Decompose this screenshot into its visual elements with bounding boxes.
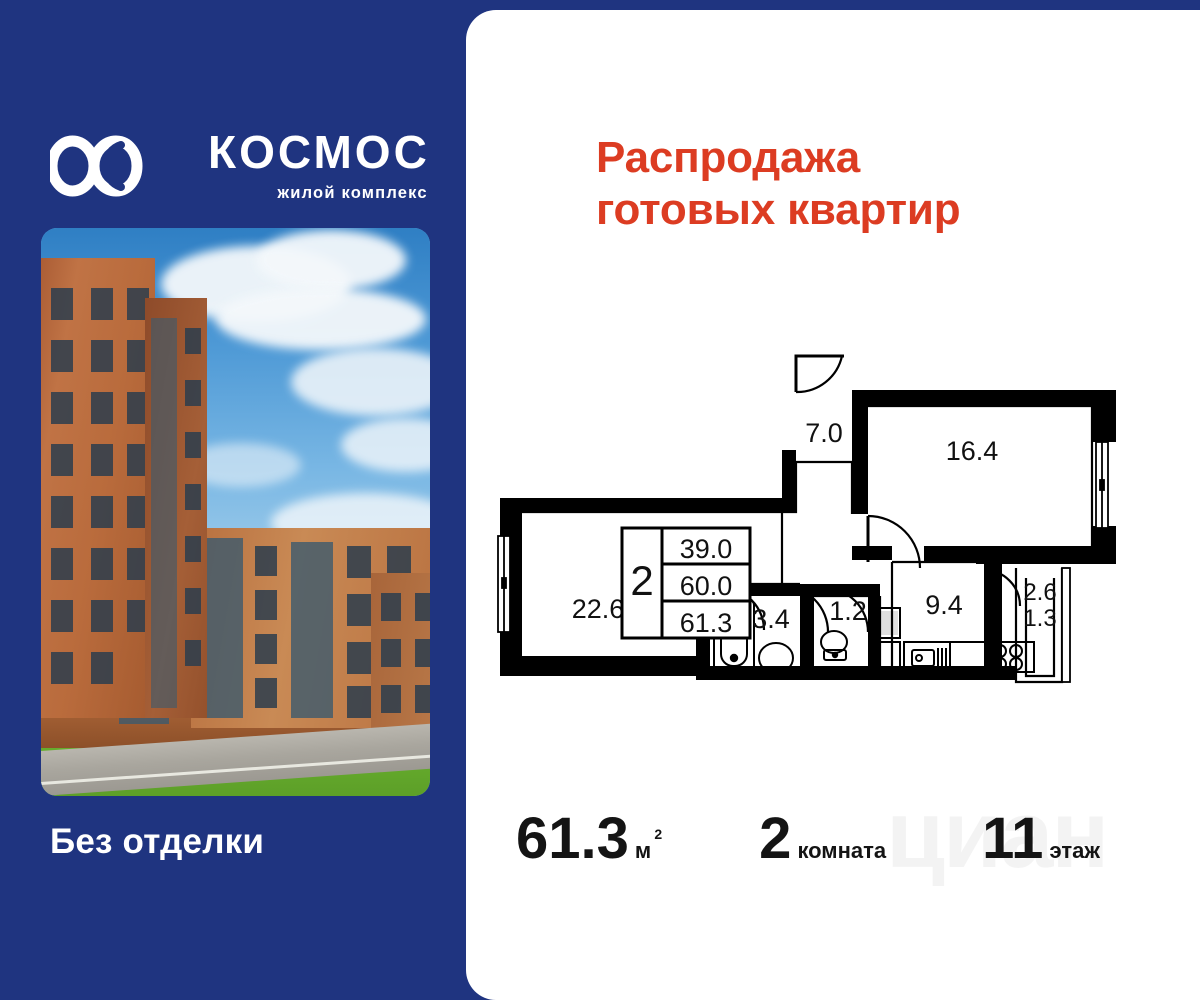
stat-floor: 11 этаж xyxy=(982,810,1100,868)
headline-line-2: готовых квартир xyxy=(596,184,1196,236)
content-card: Распродажа готовых квартир циан xyxy=(466,10,1200,1000)
area-label-wc: 1.2 xyxy=(829,596,867,626)
stat-rooms-value: 2 xyxy=(759,810,791,868)
photo-building-tower-wing xyxy=(145,298,207,718)
stat-floor-value: 11 xyxy=(982,810,1043,868)
area-label-bath: 3.4 xyxy=(752,604,790,634)
page-title: Распродажа готовых квартир xyxy=(596,132,1196,236)
area-label-living: 22.6 xyxy=(572,594,625,624)
stat-rooms-unit: комната xyxy=(797,838,886,864)
cloud-shape xyxy=(256,230,406,290)
photo-building-tower xyxy=(41,258,155,718)
superscript-2: 2 xyxy=(654,826,662,842)
area-label-balcony-gross: 2.6 xyxy=(1023,579,1056,606)
brand-name: КОСМОС xyxy=(208,129,430,175)
stat-floor-unit: этаж xyxy=(1049,838,1099,864)
info-box-area-no-balcony: 60.0 xyxy=(680,571,733,601)
apartment-stats: 61.3 м2 2 комната 11 этаж xyxy=(510,810,1200,910)
photo-building-far xyxy=(371,573,430,728)
info-box-rooms: 2 xyxy=(630,557,653,604)
brand-logo[interactable]: КОСМОС жилой комплекс xyxy=(50,118,450,214)
headline-line-1: Распродажа xyxy=(596,132,1196,184)
floorplan[interactable]: 22.6 7.0 16.4 9.4 3.4 1.2 2.6 1.3 2 39.0… xyxy=(476,350,1200,720)
building-photo xyxy=(41,228,430,796)
area-label-balcony-net: 1.3 xyxy=(1023,605,1056,632)
info-box-total-area: 61.3 xyxy=(680,608,733,638)
stat-area-value: 61.3 xyxy=(516,810,629,868)
stat-area: 61.3 м2 xyxy=(516,810,651,868)
cloud-shape xyxy=(216,288,426,350)
left-panel: КОСМОС жилой комплекс xyxy=(0,0,520,1000)
area-label-kitchen: 9.4 xyxy=(925,590,963,620)
brand-subtitle: жилой комплекс xyxy=(277,184,429,203)
info-box-living-area: 39.0 xyxy=(680,534,733,564)
floorplan-svg: 22.6 7.0 16.4 9.4 3.4 1.2 2.6 1.3 2 39.0… xyxy=(476,350,1200,720)
area-label-bedroom: 16.4 xyxy=(946,436,999,466)
infinity-icon xyxy=(50,133,190,199)
finish-caption: Без отделки xyxy=(50,822,450,862)
stat-rooms: 2 комната xyxy=(759,810,886,868)
area-label-hall: 7.0 xyxy=(805,418,843,448)
stat-area-unit: м2 xyxy=(635,838,651,864)
